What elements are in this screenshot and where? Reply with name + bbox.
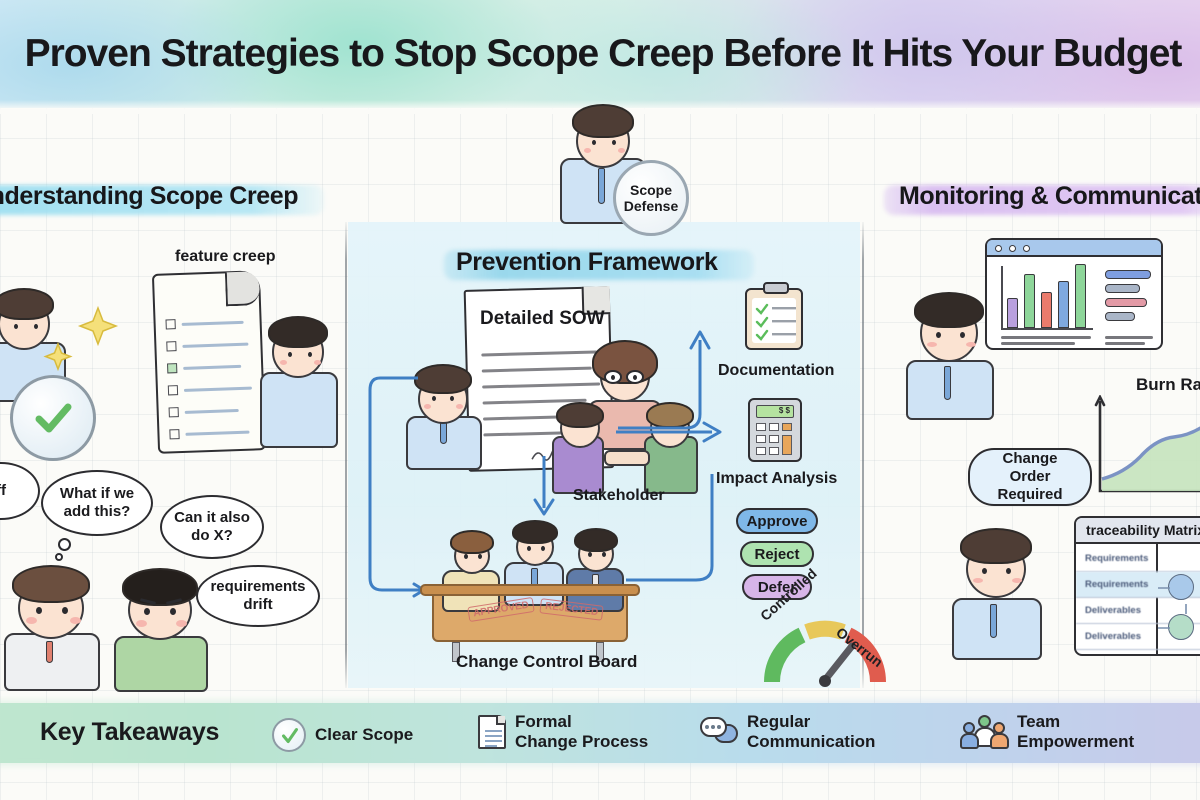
- window-dot-3: [1023, 245, 1030, 252]
- right-figure-presenter: [896, 276, 1008, 420]
- flow-arrow-impact: [612, 412, 742, 452]
- board-table-top: [420, 584, 640, 596]
- scope-defense-badge: Scope Defense: [613, 160, 689, 236]
- traceability-matrix: traceability Matrix RequirementsRequirem…: [1074, 516, 1200, 656]
- dashboard-bar-2: [1041, 292, 1052, 328]
- flow-arrow-left: [366, 372, 426, 612]
- section-heading-center: Prevention Framework: [456, 248, 718, 277]
- burn-rate-chart: [1090, 395, 1200, 507]
- window-dot-2: [1009, 245, 1016, 252]
- takeaway-label-1-line1: Formal: [515, 712, 648, 732]
- window-dot-1: [995, 245, 1002, 252]
- takeaway-item-team-empowerment: Team Empowerment: [962, 712, 1134, 752]
- takeaway-item-clear-scope: Clear Scope: [272, 718, 413, 752]
- flow-arrow-decisions: [620, 470, 740, 600]
- dashboard-window: [985, 238, 1163, 350]
- section-heading-right: Monitoring & Communication: [899, 182, 1200, 211]
- takeaway-label-0-line1: Clear Scope: [315, 725, 413, 745]
- decision-pill-reject[interactable]: Reject: [740, 541, 814, 567]
- matrix-links: [1156, 570, 1200, 650]
- feature-creep-label: feature creep: [175, 248, 276, 266]
- takeaway-item-formal-change: Formal Change Process: [478, 712, 648, 752]
- key-takeaways-title: Key Takeaways: [40, 718, 219, 747]
- left-figure-frustrated: [104, 550, 224, 690]
- matrix-row-0: Requirements: [1076, 546, 1200, 572]
- dashboard-progress-0: [1105, 270, 1151, 279]
- sow-label: Detailed SOW: [480, 308, 605, 330]
- takeaway-label-2-line2: Communication: [747, 732, 875, 752]
- speech-bubble-icon: [700, 716, 738, 748]
- dashboard-bar-3: [1058, 281, 1069, 328]
- calculator-icon: $ $: [748, 398, 802, 462]
- takeaway-label-3-line2: Empowerment: [1017, 732, 1134, 752]
- burn-rate-label: Burn Rate: [1136, 375, 1200, 395]
- takeaway-item-regular-communication: Regular Communication: [700, 712, 875, 752]
- clipboard-check-icon: [745, 288, 803, 350]
- dashboard-progress-list: [1105, 270, 1157, 326]
- right-figure-pointing: [940, 510, 1056, 660]
- necktie: [598, 168, 605, 204]
- dashboard-progress-1: [1105, 284, 1140, 293]
- takeaway-label-2-line1: Regular: [747, 712, 875, 732]
- sparkle-icon: [40, 300, 130, 390]
- requirements-scroll: [152, 270, 266, 454]
- section-heading-left: Understanding Scope Creep: [0, 182, 298, 211]
- checklist-rows: [754, 300, 800, 344]
- dashboard-progress-3: [1105, 312, 1135, 321]
- output-label-impact-analysis: Impact Analysis: [716, 470, 837, 488]
- ccb-label: Change Control Board: [456, 652, 637, 672]
- check-circle-icon: [272, 718, 306, 752]
- badge-line-1: Scope: [630, 182, 672, 198]
- flow-arrow-down: [524, 452, 564, 524]
- column-divider-left: [345, 222, 347, 688]
- dashboard-bar-chart: [1007, 266, 1095, 328]
- check-icon: [29, 394, 77, 442]
- dashboard-progress-2: [1105, 298, 1147, 307]
- speech-bubble-what-if: What if we add this?: [41, 470, 153, 536]
- infographic-canvas: Proven Strategies to Stop Scope Creep Be…: [0, 0, 1200, 800]
- takeaway-label-3-line1: Team: [1017, 712, 1134, 732]
- document-icon: [478, 715, 506, 749]
- dashboard-bar-4: [1075, 264, 1086, 328]
- decision-pill-approve[interactable]: Approve: [736, 508, 818, 534]
- output-label-documentation: Documentation: [718, 362, 834, 380]
- dashboard-bar-0: [1007, 298, 1018, 328]
- left-figure-brown-hair: [0, 545, 116, 690]
- page-title: Proven Strategies to Stop Scope Creep Be…: [0, 32, 1200, 76]
- change-order-bubble: Change Order Required: [968, 448, 1092, 506]
- left-figure-scroll-holder: [252, 300, 352, 450]
- speech-bubble-0: ff: [0, 462, 40, 520]
- takeaway-label-1-line2: Change Process: [515, 732, 648, 752]
- badge-line-2: Defense: [624, 198, 678, 214]
- matrix-title: traceability Matrix: [1076, 518, 1200, 544]
- people-group-icon: [962, 715, 1008, 749]
- dashboard-bar-1: [1024, 274, 1035, 328]
